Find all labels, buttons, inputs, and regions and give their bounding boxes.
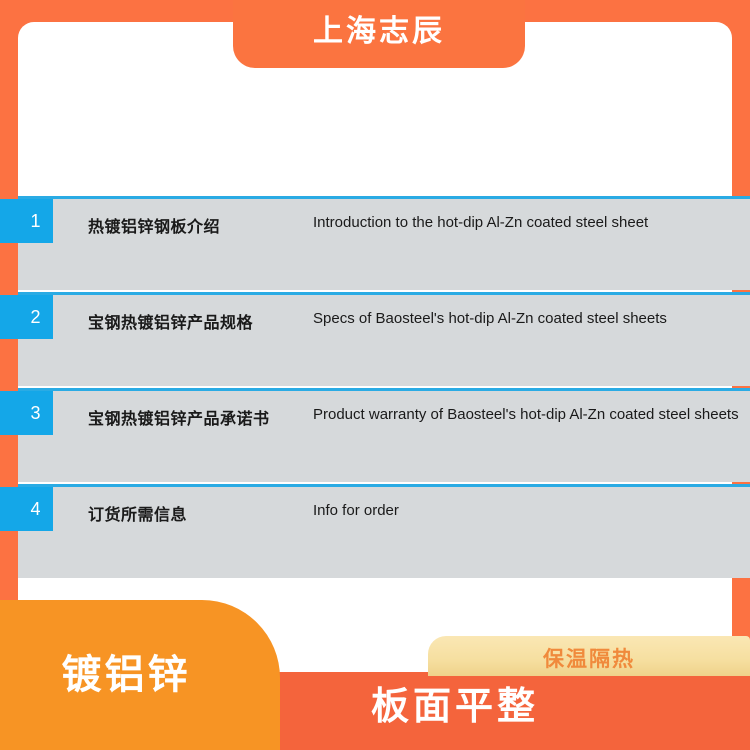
row-number-badge: 1 [0,199,53,243]
list-item[interactable]: 3 宝钢热镀铝锌产品承诺书 Product warranty of Baoste… [18,388,750,482]
row-number-badge: 3 [0,391,53,435]
footer-caption: 板面平整 [0,688,750,726]
row-title-en: Introduction to the hot-dip Al-Zn coated… [313,214,648,231]
list-item[interactable]: 2 宝钢热镀铝锌产品规格 Specs of Baosteel's hot-dip… [18,292,750,386]
feature-badge-label: 保温隔热 [543,643,635,670]
poster-canvas: 上海志辰 1 热镀铝锌钢板介绍 Introduction to the hot-… [0,0,750,750]
feature-badge-insulation: 保温隔热 [428,636,750,676]
row-title-en: Product warranty of Baosteel's hot-dip A… [313,406,739,423]
row-title-en: Info for order [313,502,399,519]
row-number-badge: 2 [0,295,53,339]
row-title-en: Specs of Baosteel's hot-dip Al-Zn coated… [313,310,667,327]
footer-caption-label: 板面平整 [371,686,539,728]
header-tab: 上海志辰 [233,0,525,68]
row-title-cn: 订货所需信息 [88,501,187,525]
list-item[interactable]: 1 热镀铝锌钢板介绍 Introduction to the hot-dip A… [18,196,750,290]
row-title-cn: 热镀铝锌钢板介绍 [88,213,220,237]
footer-left-blob: 镀铝锌 [0,600,280,750]
page-title: 上海志辰 [313,17,445,51]
list-item[interactable]: 4 订货所需信息 Info for order [18,484,750,578]
row-title-cn: 宝钢热镀铝锌产品承诺书 [88,405,270,429]
row-number-badge: 4 [0,487,53,531]
catalog-list: 1 热镀铝锌钢板介绍 Introduction to the hot-dip A… [18,196,750,578]
row-title-cn: 宝钢热镀铝锌产品规格 [88,309,253,333]
